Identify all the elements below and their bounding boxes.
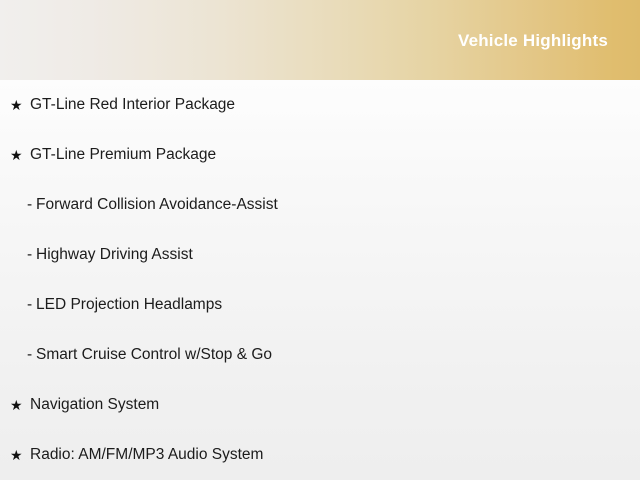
list-item[interactable]: - Forward Collision Avoidance-Assist: [0, 180, 640, 230]
dash-icon: -: [27, 297, 36, 313]
list-item-label: Smart Cruise Control w/Stop & Go: [36, 347, 272, 363]
star-icon: ★: [10, 98, 30, 112]
vehicle-highlights-list: ★ GT-Line Red Interior Package ★ GT-Line…: [0, 80, 640, 480]
dash-icon: -: [27, 247, 36, 263]
dash-icon: -: [27, 197, 36, 213]
page-title: Vehicle Highlights: [458, 32, 608, 49]
list-item-label: Navigation System: [30, 397, 159, 413]
list-item-label: LED Projection Headlamps: [36, 297, 222, 313]
star-icon: ★: [10, 398, 30, 412]
vehicle-highlights-panel: Vehicle Highlights ★ GT-Line Red Interio…: [0, 0, 640, 480]
dash-icon: -: [27, 347, 36, 363]
list-item-label: Forward Collision Avoidance-Assist: [36, 197, 278, 213]
list-item-label: GT-Line Premium Package: [30, 147, 216, 163]
list-item-label: GT-Line Red Interior Package: [30, 97, 235, 113]
star-icon: ★: [10, 148, 30, 162]
list-item[interactable]: - Highway Driving Assist: [0, 230, 640, 280]
list-item[interactable]: ★ GT-Line Red Interior Package: [0, 80, 640, 130]
list-item[interactable]: ★ Navigation System: [0, 380, 640, 430]
list-item-label: Radio: AM/FM/MP3 Audio System: [30, 447, 263, 463]
list-item[interactable]: ★ GT-Line Premium Package: [0, 130, 640, 180]
panel-header: Vehicle Highlights: [0, 0, 640, 80]
star-icon: ★: [10, 448, 30, 462]
list-item-label: Highway Driving Assist: [36, 247, 193, 263]
list-item[interactable]: - Smart Cruise Control w/Stop & Go: [0, 330, 640, 380]
list-item[interactable]: - LED Projection Headlamps: [0, 280, 640, 330]
list-item[interactable]: ★ Radio: AM/FM/MP3 Audio System: [0, 430, 640, 480]
